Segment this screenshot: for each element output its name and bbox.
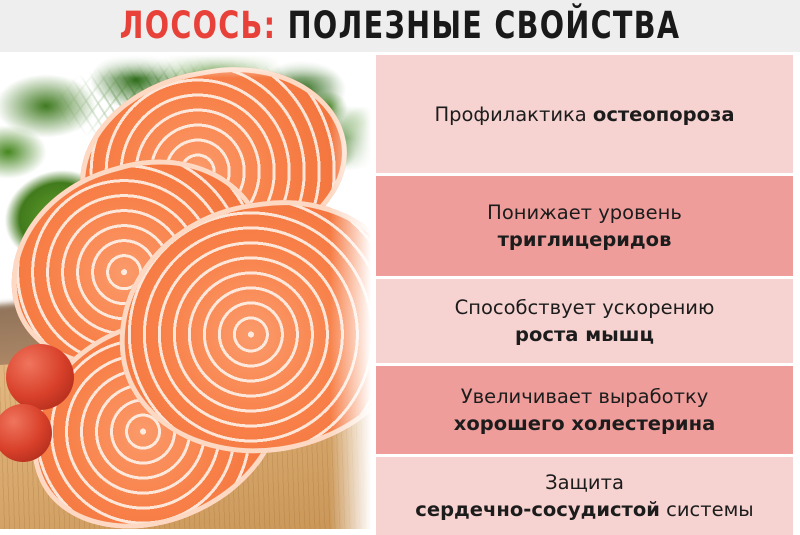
benefit-text-suffix: системы <box>660 498 754 521</box>
benefit-line: Увеличивает выработку <box>461 383 709 410</box>
title-highlight: ЛОСОСЬ <box>120 4 264 47</box>
benefit-line: хорошего холестерина <box>454 410 715 437</box>
benefit-text-bold: остеопороза <box>593 103 735 126</box>
benefit-text-bold: сердечно-сосудистой <box>415 498 660 521</box>
benefits-list: Профилактика остеопороза Понижает уровен… <box>374 52 800 529</box>
benefit-text-regular: Способствует ускорению <box>455 296 715 319</box>
benefit-item-osteoporosis: Профилактика остеопороза <box>376 55 793 173</box>
title-separator: : <box>264 4 277 47</box>
benefit-text-regular: Понижает уровень <box>487 201 682 224</box>
photo-right-fade-decor <box>330 52 374 529</box>
salmon-photo <box>0 52 374 529</box>
benefit-line: сердечно-сосудистой системы <box>415 496 753 523</box>
benefit-line: Понижает уровень <box>487 199 682 226</box>
benefit-item-cardiovascular: Защита сердечно-сосудистой системы <box>376 457 793 535</box>
benefit-line: Способствует ускорению <box>455 294 715 321</box>
benefit-text-regular: Защита <box>545 471 624 494</box>
photo-top-fade-decor <box>0 52 374 78</box>
title-rest: ПОЛЕЗНЫЕ СВОЙСТВА <box>288 4 681 47</box>
benefit-item-triglycerides: Понижает уровень триглицеридов <box>376 176 793 276</box>
benefit-line: роста мышц <box>515 321 654 348</box>
benefit-item-good-cholesterol: Увеличивает выработку хорошего холестери… <box>376 366 793 454</box>
title-bar: ЛОСОСЬ: ПОЛЕЗНЫЕ СВОЙСТВА <box>0 0 800 52</box>
benefit-line: Защита <box>545 469 624 496</box>
benefit-line: Профилактика остеопороза <box>434 101 734 128</box>
benefit-text-regular: Профилактика <box>434 103 592 126</box>
benefit-line: триглицеридов <box>498 226 672 253</box>
benefit-text-bold: роста мышц <box>515 323 654 346</box>
benefit-text-bold: хорошего холестерина <box>454 412 715 435</box>
infographic-root: ЛОСОСЬ: ПОЛЕЗНЫЕ СВОЙСТВА Профилактика о… <box>0 0 800 529</box>
title-spacer <box>276 4 287 47</box>
benefit-item-muscle-growth: Способствует ускорению роста мышц <box>376 279 793 363</box>
cherry-tomato-decor <box>6 344 74 410</box>
benefit-text-bold: триглицеридов <box>498 228 672 251</box>
benefit-text-regular: Увеличивает выработку <box>461 385 709 408</box>
page-title: ЛОСОСЬ: ПОЛЕЗНЫЕ СВОЙСТВА <box>120 6 681 46</box>
content-area: Профилактика остеопороза Понижает уровен… <box>0 52 800 529</box>
